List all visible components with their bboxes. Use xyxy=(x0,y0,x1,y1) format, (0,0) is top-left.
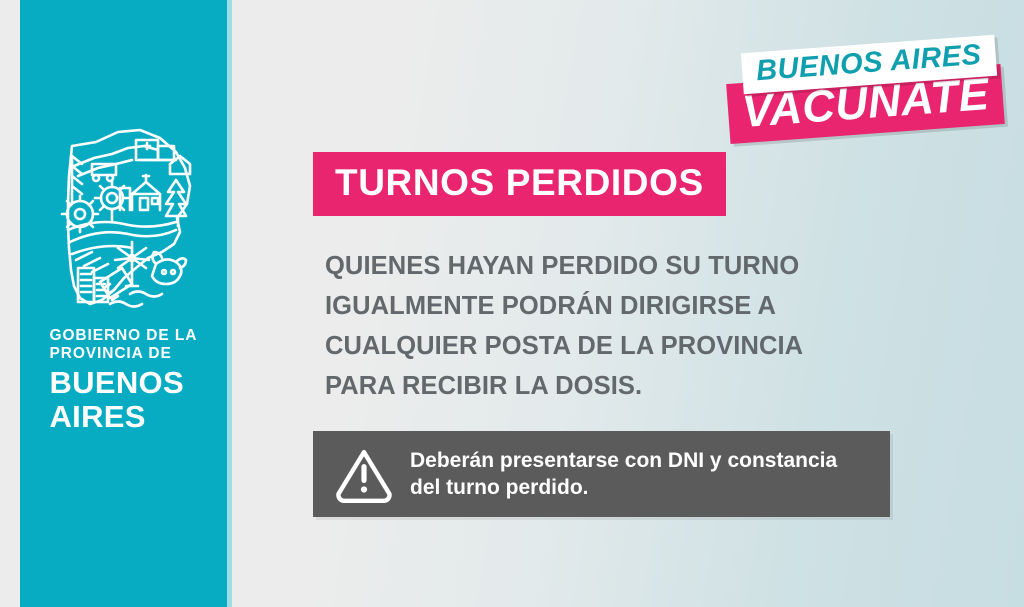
body-copy: QUIENES HAYAN PERDIDO SU TURNO IGUALMENT… xyxy=(325,246,865,406)
body-line-1: QUIENES HAYAN PERDIDO SU TURNO xyxy=(325,246,865,286)
page-title: TURNOS PERDIDOS xyxy=(335,164,704,202)
page-title-banner: TURNOS PERDIDOS xyxy=(313,152,726,216)
vaccination-notice-poster: GOBIERNO DE LA PROVINCIA DE BUENOS AIRES… xyxy=(0,0,1024,607)
gov-big-2: AIRES xyxy=(50,400,212,434)
sidebar-edge-stripe xyxy=(227,0,232,607)
notice-text: Deberán presentarse con DNI y constancia… xyxy=(410,447,837,501)
notice-line-2: del turno perdido. xyxy=(410,474,837,501)
body-line-4: PARA RECIBIR LA DOSIS. xyxy=(325,366,865,406)
warning-triangle-icon xyxy=(332,445,396,503)
government-branding-sidebar: GOBIERNO DE LA PROVINCIA DE BUENOS AIRES xyxy=(20,0,227,607)
buenos-aires-vacunate-logo: BUENOS AIRES VACUNATE xyxy=(728,44,988,144)
requirements-notice-box: Deberán presentarse con DNI y constancia… xyxy=(313,431,890,517)
gov-big-1: BUENOS xyxy=(50,366,212,400)
gov-line-2: PROVINCIA DE xyxy=(50,345,212,363)
gov-line-1: GOBIERNO DE LA xyxy=(50,327,212,345)
notice-line-1: Deberán presentarse con DNI y constancia xyxy=(410,447,837,474)
government-wordmark: GOBIERNO DE LA PROVINCIA DE BUENOS AIRES xyxy=(36,327,212,434)
buenos-aires-province-map-emblem-icon xyxy=(44,118,204,313)
body-line-3: CUALQUIER POSTA DE LA PROVINCIA xyxy=(325,326,865,366)
body-line-2: IGUALMENTE PODRÁN DIRIGIRSE A xyxy=(325,286,865,326)
